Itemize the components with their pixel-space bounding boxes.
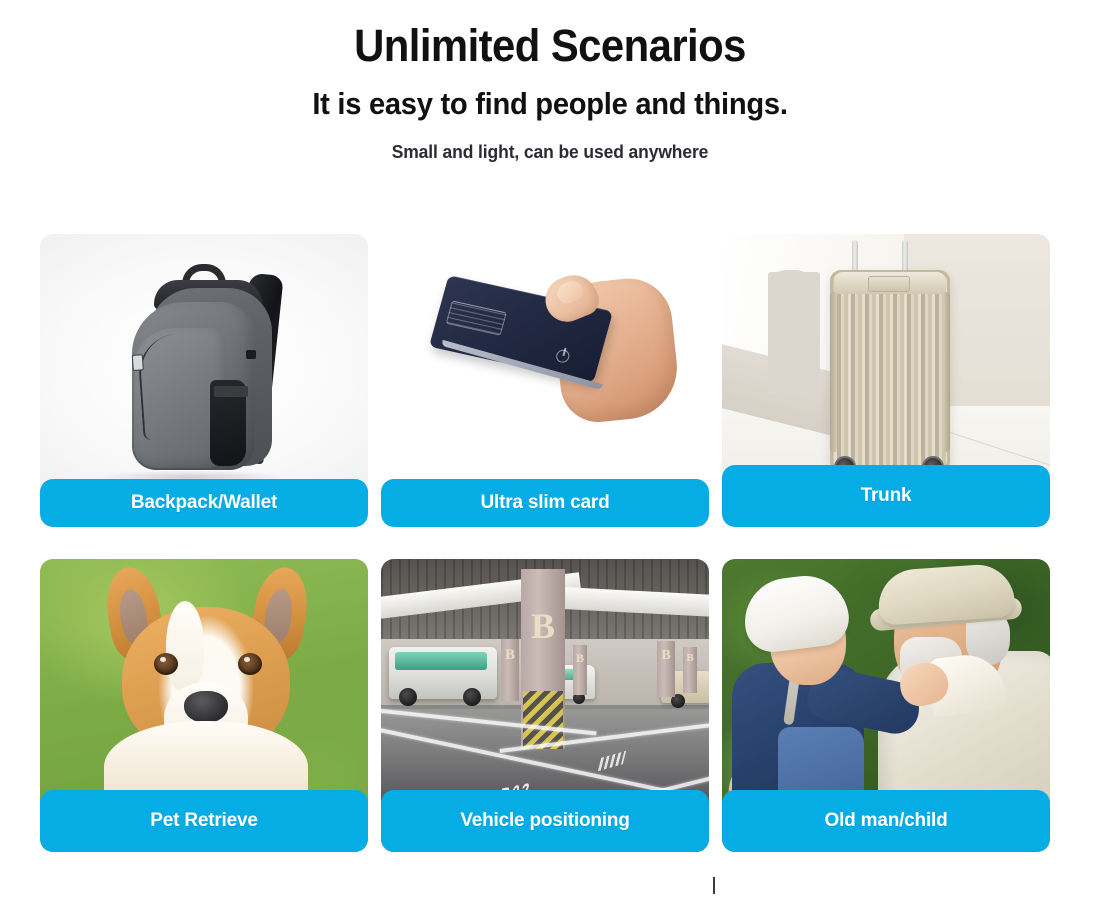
page-subtitle: It is easy to find people and things. (33, 87, 1067, 121)
scenario-card-old-man-child[interactable]: Old man/child (722, 559, 1050, 852)
scenario-card-vehicle-positioning[interactable]: B B B B B B02 (381, 559, 709, 852)
suitcase-left-edge (830, 292, 837, 452)
suitcase-telescoping-handle (852, 240, 908, 274)
pillar-label-3: B (573, 651, 587, 666)
suitcase-right-edge (943, 292, 950, 452)
garage-pillar-2: B (501, 639, 519, 701)
scenario-label-backpack-wallet: Backpack/Wallet (40, 479, 368, 527)
pillar-label-4: B (657, 648, 675, 664)
garage-pillar-5: B (683, 647, 697, 693)
garage-pillar-4: B (657, 641, 675, 697)
suitcase-shell (830, 270, 950, 468)
scenario-label-trunk: Trunk (722, 465, 1050, 527)
scenario-label-vehicle-positioning: Vehicle positioning (381, 790, 709, 852)
garage-pillar-3: B (573, 645, 587, 695)
scenario-card-ultra-slim-card[interactable]: Ultra slim card (381, 234, 709, 527)
page-title: Unlimited Scenarios (39, 22, 1062, 69)
pillar-label-main: B (521, 605, 565, 647)
scenario-card-pet-retrieve[interactable]: Pet Retrieve (40, 559, 368, 852)
pillar-label-2: B (501, 647, 519, 664)
garage-pillar-main: B (521, 569, 565, 749)
scenarios-page: Unlimited Scenarios It is easy to find p… (0, 0, 1100, 900)
corgi-illustration (92, 565, 320, 805)
scenario-card-trunk[interactable]: Trunk (722, 234, 1050, 527)
suitcase-wall-shadow (768, 272, 820, 394)
backpack-usb-port (246, 350, 256, 359)
header-block: Unlimited Scenarios It is easy to find p… (0, 0, 1100, 163)
corgi-eye-right (238, 653, 262, 675)
backpack-zipper (136, 332, 215, 441)
corgi-nose (184, 691, 228, 723)
page-tagline: Small and light, can be used anywhere (17, 142, 1084, 163)
scenario-label-old-man-child: Old man/child (722, 790, 1050, 852)
corgi-eye-left (154, 653, 178, 675)
garage-white-suv (389, 647, 497, 699)
suitcase-latch (868, 276, 910, 292)
page-bottom-mark (713, 877, 715, 894)
backpack-illustration (124, 258, 294, 478)
scenario-card-backpack-wallet[interactable]: Backpack/Wallet (40, 234, 368, 527)
corgi-face-blaze (166, 601, 204, 691)
power-button-icon (555, 348, 571, 363)
scenario-label-ultra-slim-card: Ultra slim card (381, 479, 709, 527)
scenario-card-grid: Backpack/Wallet Ultra slim card (40, 234, 1062, 852)
pillar-label-5: B (683, 652, 697, 664)
backpack-buckle (214, 386, 248, 397)
scenario-label-pet-retrieve: Pet Retrieve (40, 790, 368, 852)
